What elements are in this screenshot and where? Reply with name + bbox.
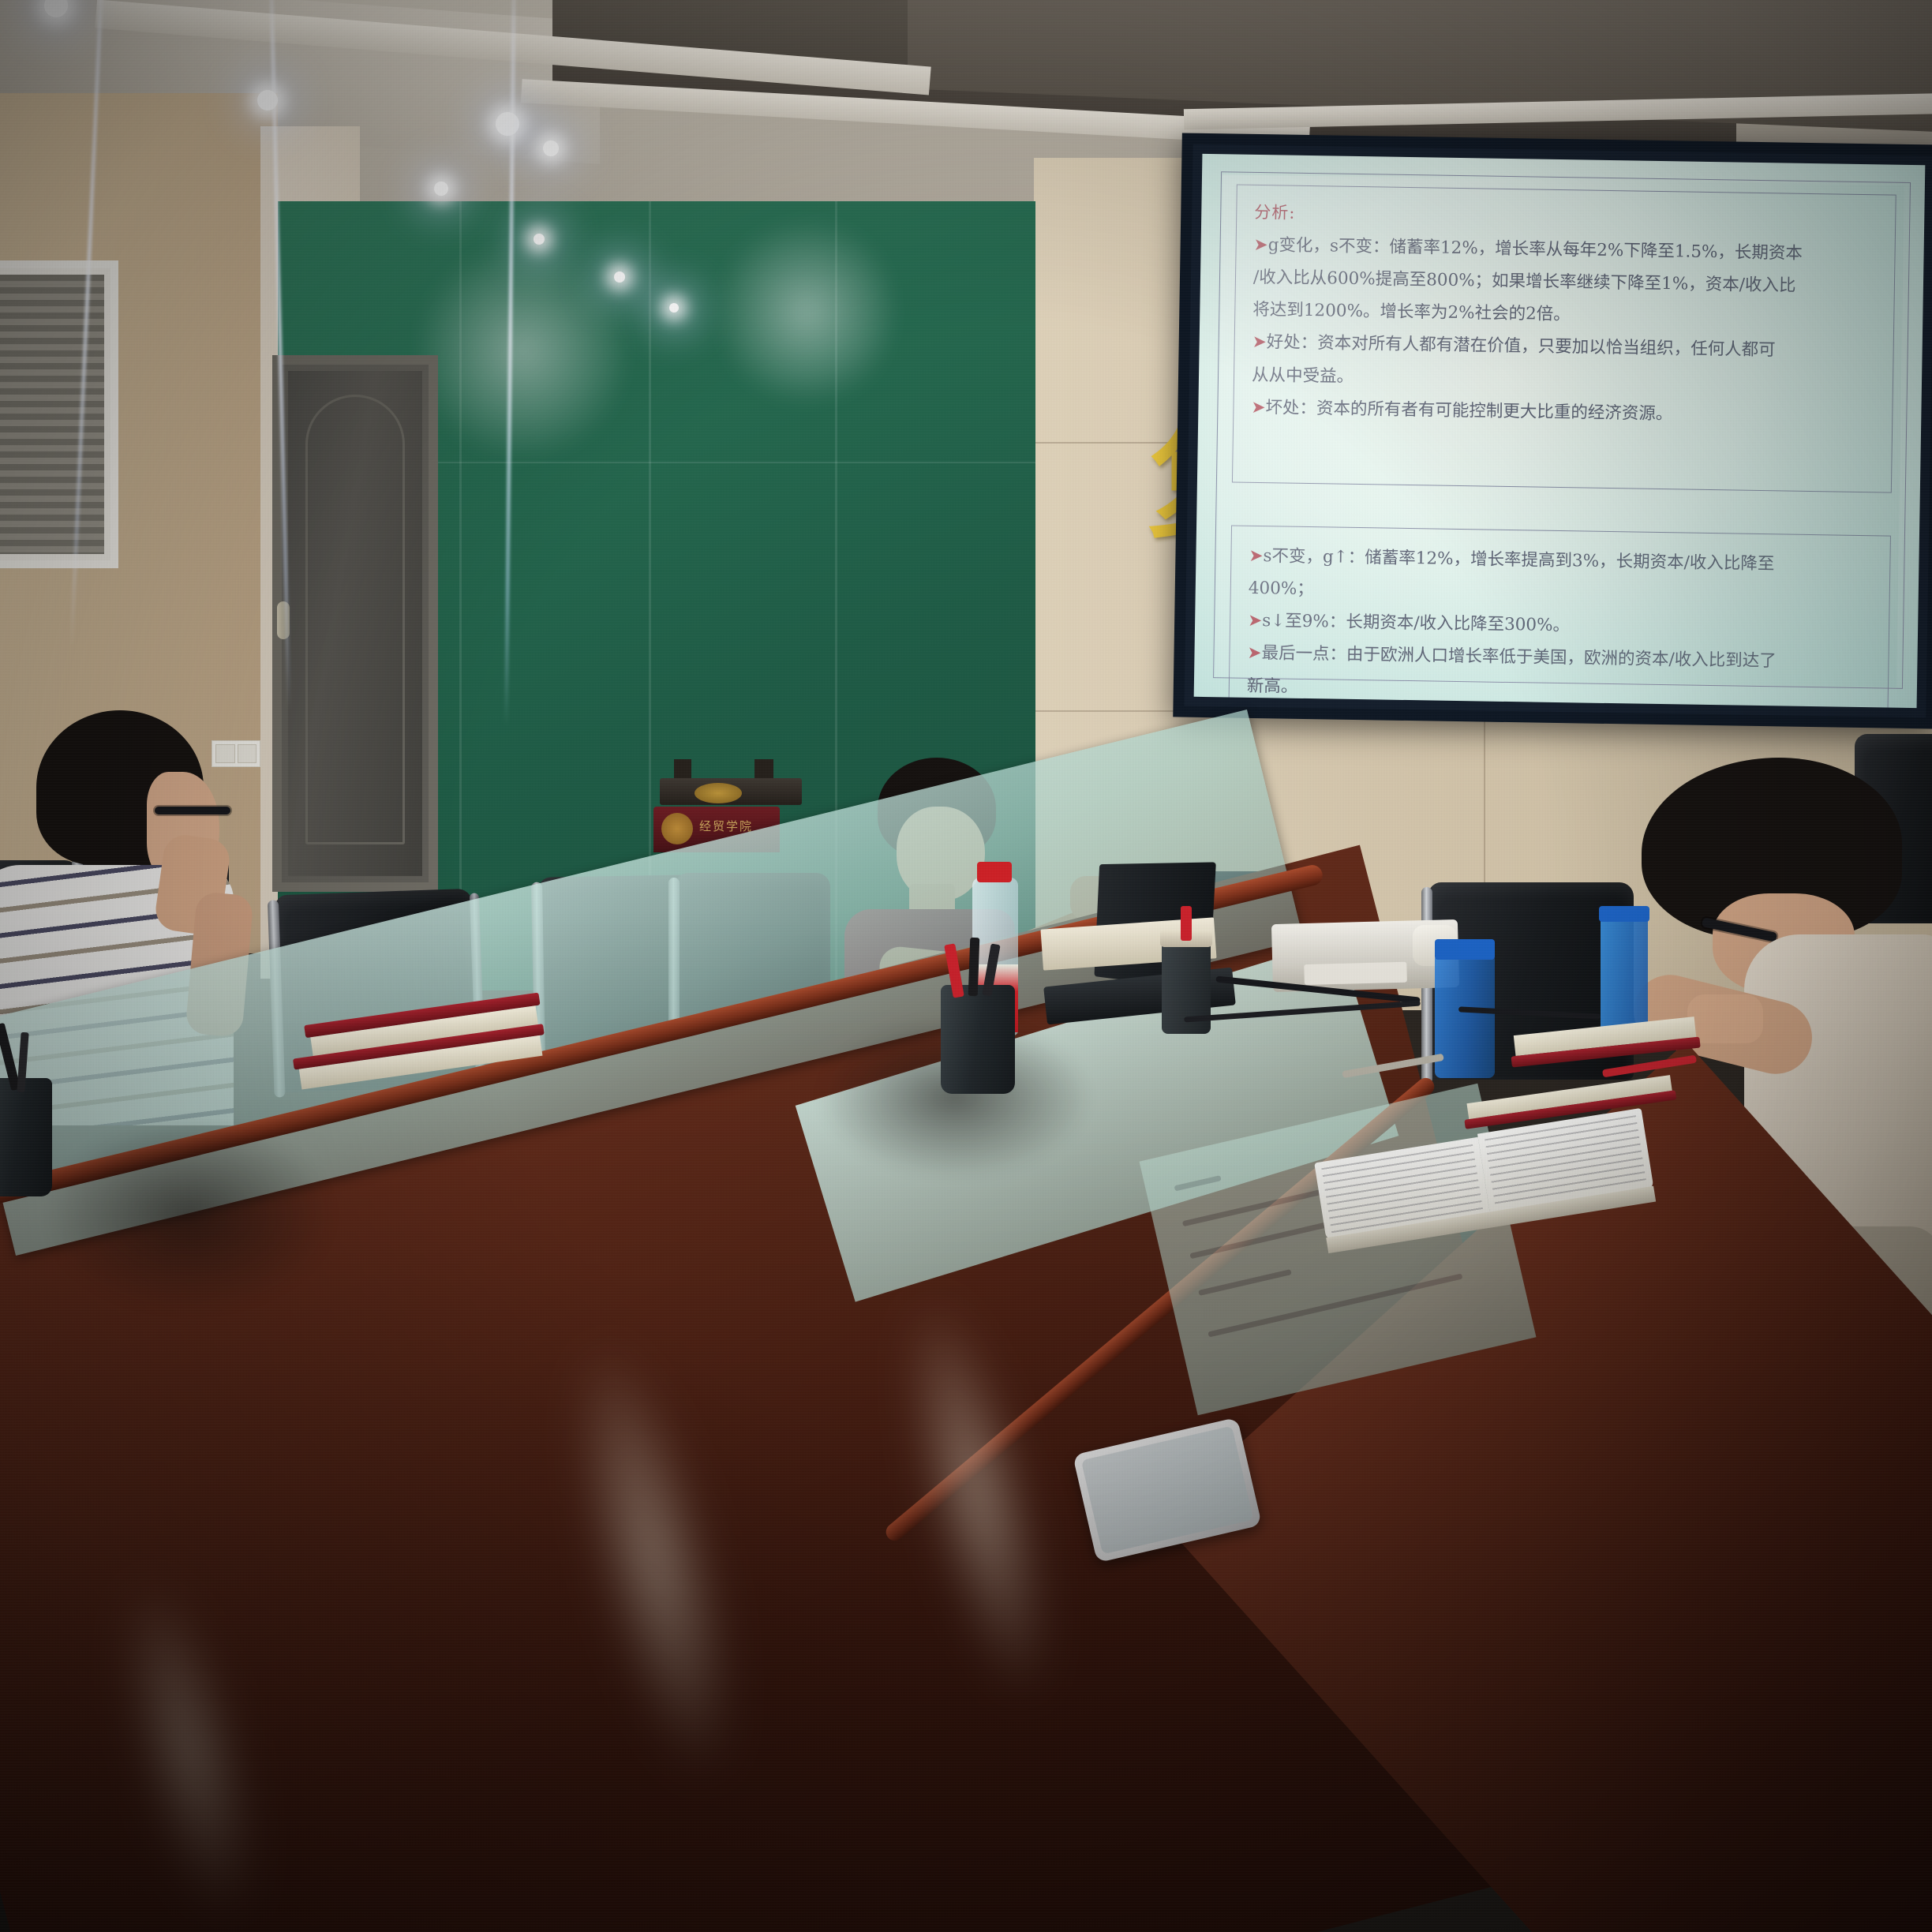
person-reflection (47, 1121, 331, 1310)
reflection-text-line (1198, 1269, 1291, 1296)
water-bottle-blue-1[interactable] (1435, 953, 1495, 1078)
pen-cup-left[interactable] (0, 1078, 52, 1196)
podium-sign-text: 经贸学院 (699, 818, 753, 834)
slide-line-text: 400%； (1249, 578, 1314, 599)
slide-heading: 分析: (1254, 200, 1878, 233)
slide-bullet-marker: ➤ (1248, 611, 1262, 631)
downlight-icon (669, 303, 679, 313)
slide-line-text: 最后一点：由于欧洲人口增长率低于美国，欧洲的资本/收入比到达了 (1261, 643, 1777, 671)
downlight-icon (614, 271, 625, 283)
slide-line-text: 好处：资本对所有人都有潜在价值，只要加以恰当组织，任何人都可 (1267, 333, 1776, 361)
slide-bullet-marker: ➤ (1253, 235, 1267, 255)
slide-block-scenarios: ➤s不变，g↑：储蓄率12%，增长率提高到3%，长期资本/收入比降至 400%；… (1228, 525, 1891, 708)
window-blinds (0, 275, 104, 554)
glasses-icon (155, 807, 230, 814)
downlight-icon (543, 140, 559, 156)
slide-line-text: s↓至9%：长期资本/收入比降至300%。 (1262, 611, 1570, 635)
pen-cup-center[interactable] (941, 985, 1015, 1094)
downlight-icon (434, 182, 448, 196)
student-reading-hand (1687, 994, 1763, 1043)
bottle-cap (1599, 906, 1649, 922)
pen[interactable] (968, 938, 980, 996)
downlight-icon (496, 112, 519, 136)
podium-gold-ornament (695, 783, 742, 803)
slide-line-text: 坏处：资本的所有者有可能控制更大比重的经济资源。 (1265, 398, 1672, 424)
projector-port-panel (1304, 962, 1407, 985)
slide-line-text: 将达到1200%。增长率为2%社会的2倍。 (1252, 300, 1571, 324)
green-wall-gloss (720, 209, 893, 414)
slide-line-text: g变化，s不变：储蓄率12%，增长率从每年2%下降至1.5%，长期资本 (1267, 235, 1803, 264)
school-emblem-icon (661, 813, 693, 844)
bottle-cap (977, 862, 1012, 882)
slide-line-text: 新高。 (1247, 676, 1298, 696)
slide-bullet-marker: ➤ (1252, 332, 1267, 352)
projected-slide: 分析: ➤g变化，s不变：储蓄率12%，增长率从每年2%下降至1.5%，长期资本… (1194, 154, 1926, 708)
downlight-icon (534, 234, 545, 245)
photo-scene: 复 分析: ➤g变化，s不变：储蓄率12%，增长率从每年2%下降至1.5%，长期… (0, 0, 1932, 1932)
slide-bullet-marker: ➤ (1247, 643, 1261, 663)
window (0, 260, 118, 568)
green-wall-gloss (420, 233, 625, 470)
bottle-cap (1435, 939, 1495, 960)
slide-line-text: s不变，g↑：储蓄率12%，增长率提高到3%，长期资本/收入比降至 (1263, 546, 1774, 574)
water-bottle-blue-2[interactable] (1601, 914, 1648, 1032)
projection-screen: 分析: ➤g变化，s不变：储蓄率12%，增长率从每年2%下降至1.5%，长期资本… (1173, 133, 1932, 728)
slide-line-text: /收入比从600%提高至800%；如果增长率继续下降至1%，资本/收入比 (1253, 268, 1796, 296)
slide-bullet-marker: ➤ (1251, 397, 1265, 417)
reflection-text-line (1174, 1175, 1222, 1191)
slide-bullet-marker: ➤ (1249, 546, 1263, 566)
slide-block-analysis: 分析: ➤g变化，s不变：储蓄率12%，增长率从每年2%下降至1.5%，长期资本… (1232, 185, 1896, 493)
pen-red[interactable] (1181, 906, 1192, 941)
slide-line-text: 从从中受益。 (1252, 365, 1354, 386)
reflection-text-line (1182, 1185, 1337, 1226)
